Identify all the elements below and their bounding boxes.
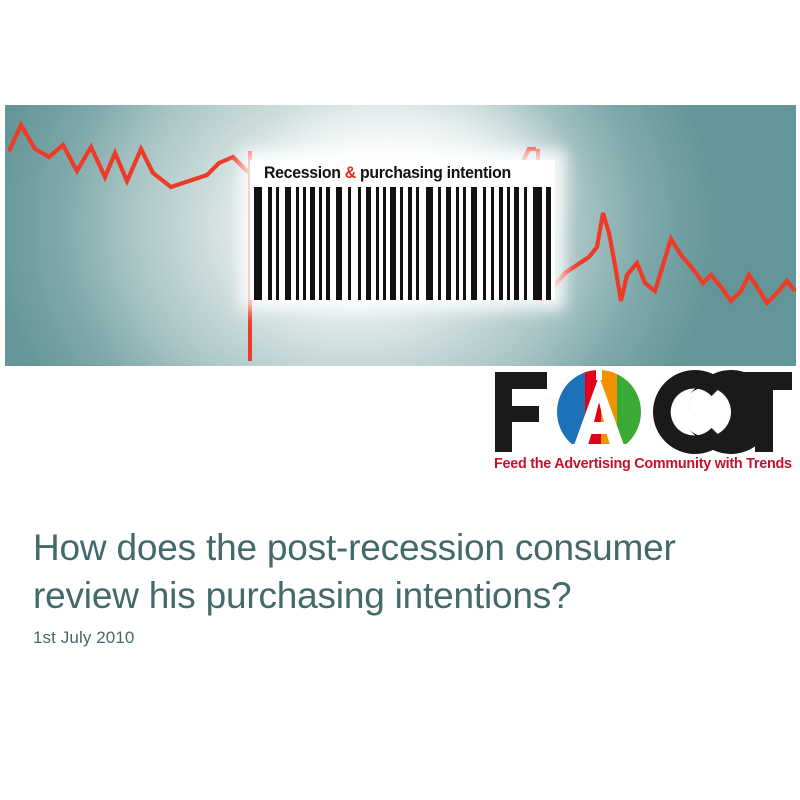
hero-banner: Recession & purchasing intention [5, 105, 796, 366]
slide-date: 1st July 2010 [33, 628, 134, 648]
fact-logo: Feed the Advertising Community with Tren… [493, 370, 793, 478]
chart-line-right [540, 213, 795, 303]
logo-tagline: Feed the Advertising Community with Tren… [494, 456, 791, 472]
barcode-panel: Recession & purchasing intention [250, 160, 555, 300]
logo-letter-f [495, 372, 547, 452]
barcode-title-ampersand: & [345, 164, 356, 182]
barcode-title-text: Recession & purchasing intention [264, 164, 533, 183]
barcode-title-prefix: Recession [264, 164, 345, 182]
logo-letter-a-roundel [557, 370, 643, 454]
fact-wordmark [493, 370, 793, 454]
barcode-bars [250, 187, 555, 300]
page-title: How does the post-recession consumer rev… [33, 524, 763, 620]
barcode-title-suffix: purchasing intention [356, 164, 511, 182]
